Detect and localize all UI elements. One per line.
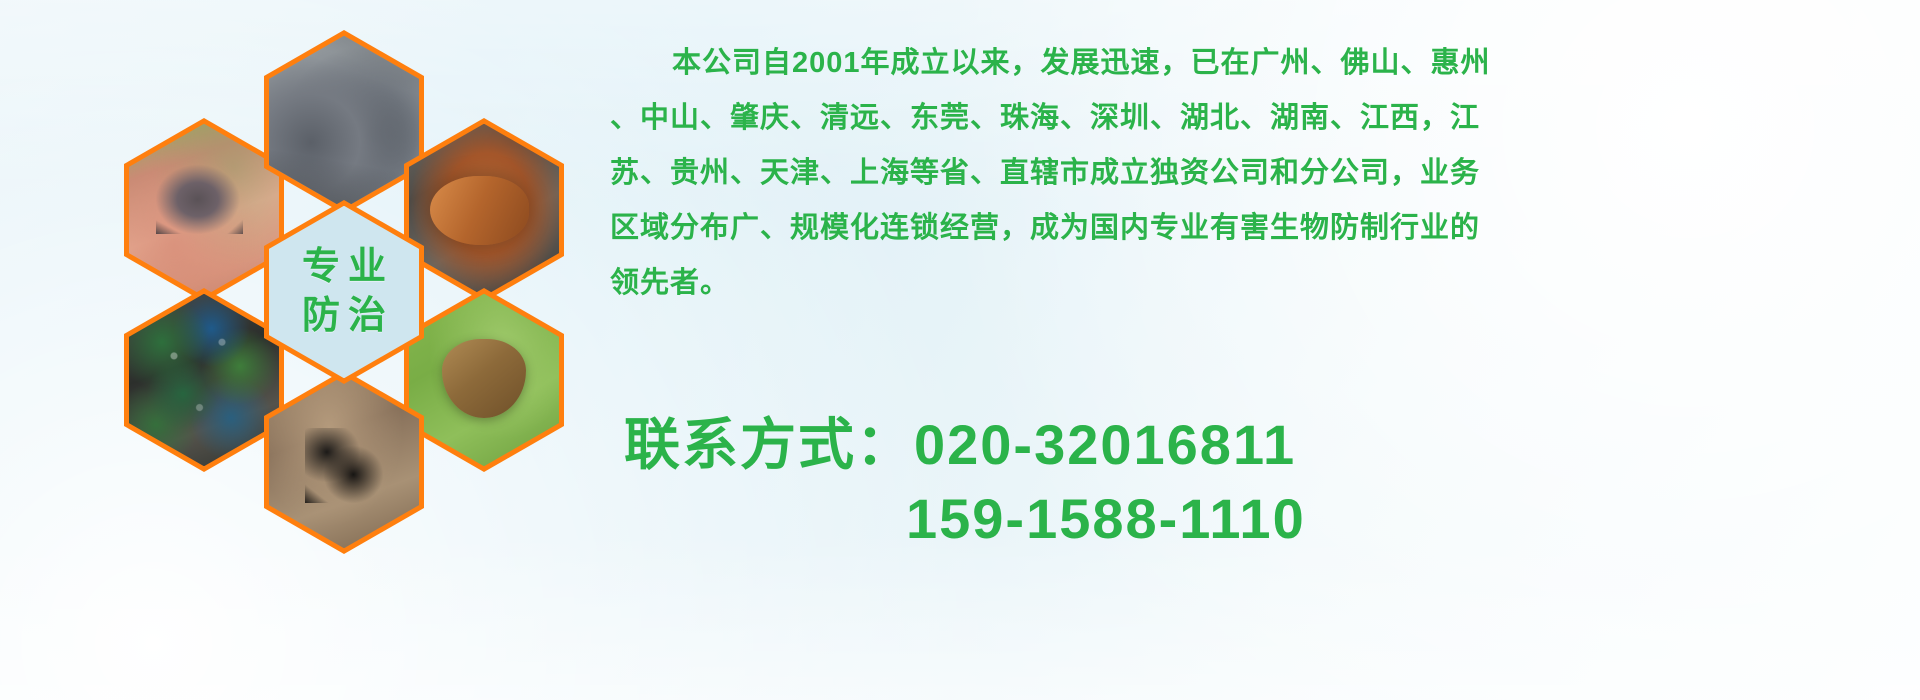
- mosquito-photo: [129, 124, 279, 297]
- about-line-2: 、中山、肇庆、清远、东莞、珠海、深圳、湖北、湖南、江西，江: [610, 91, 1880, 146]
- hex-inner-center-label: 专业 防治: [269, 206, 419, 379]
- hex-inner-mosquito: [129, 124, 279, 297]
- about-company-paragraph: 本公司自2001年成立以来，发展迅速，已在广州、佛山、惠州 、中山、肇庆、清远、…: [610, 36, 1880, 311]
- hex-tile-ant: [264, 370, 424, 554]
- about-line-4: 区域分布广、规模化连锁经营，成为国内专业有害生物防制行业的: [610, 201, 1880, 256]
- hex-tile-mosquito: [124, 118, 284, 302]
- hex-inner-ant: [269, 376, 419, 549]
- hex-inner-cockroach: [409, 124, 559, 297]
- stinkbug-photo: [409, 294, 559, 467]
- contact-phone-mobile[interactable]: 159-1588-1110: [610, 482, 1880, 556]
- hex-inner-flies: [129, 294, 279, 467]
- about-line-3: 苏、贵州、天津、上海等省、直辖市成立独资公司和分公司，业务: [610, 146, 1880, 201]
- about-line-1-text: 本公司自2001年成立以来，发展迅速，已在广州、佛山、惠州: [672, 47, 1491, 79]
- cockroach-photo: [409, 124, 559, 297]
- contact-block: 联系方式：020-32016811 159-1588-1110: [610, 408, 1880, 556]
- ant-photo: [269, 376, 419, 549]
- pest-control-banner: 专业 防治 本公司自2001年成立以来，发展迅速，已在广州、佛山、惠州 、中山、…: [0, 0, 1920, 700]
- hexagon-photo-cluster: 专业 防治: [90, 8, 590, 568]
- hex-inner-rodent: [269, 36, 419, 209]
- center-label-line-1: 专业: [294, 246, 394, 289]
- contact-phone-landline[interactable]: 联系方式：020-32016811: [610, 408, 1880, 482]
- flies-photo: [129, 294, 279, 467]
- rodent-photo: [269, 36, 419, 209]
- about-line-1: 本公司自2001年成立以来，发展迅速，已在广州、佛山、惠州: [610, 36, 1880, 91]
- hex-inner-stinkbug: [409, 294, 559, 467]
- about-line-5: 领先者。: [610, 256, 1880, 311]
- hex-tile-rodent: [264, 30, 424, 214]
- hex-tile-center-label: 专业 防治: [264, 200, 424, 384]
- hex-tile-cockroach: [404, 118, 564, 302]
- hex-tile-flies: [124, 288, 284, 472]
- center-label-line-2: 防治: [294, 295, 394, 338]
- hex-tile-stinkbug: [404, 288, 564, 472]
